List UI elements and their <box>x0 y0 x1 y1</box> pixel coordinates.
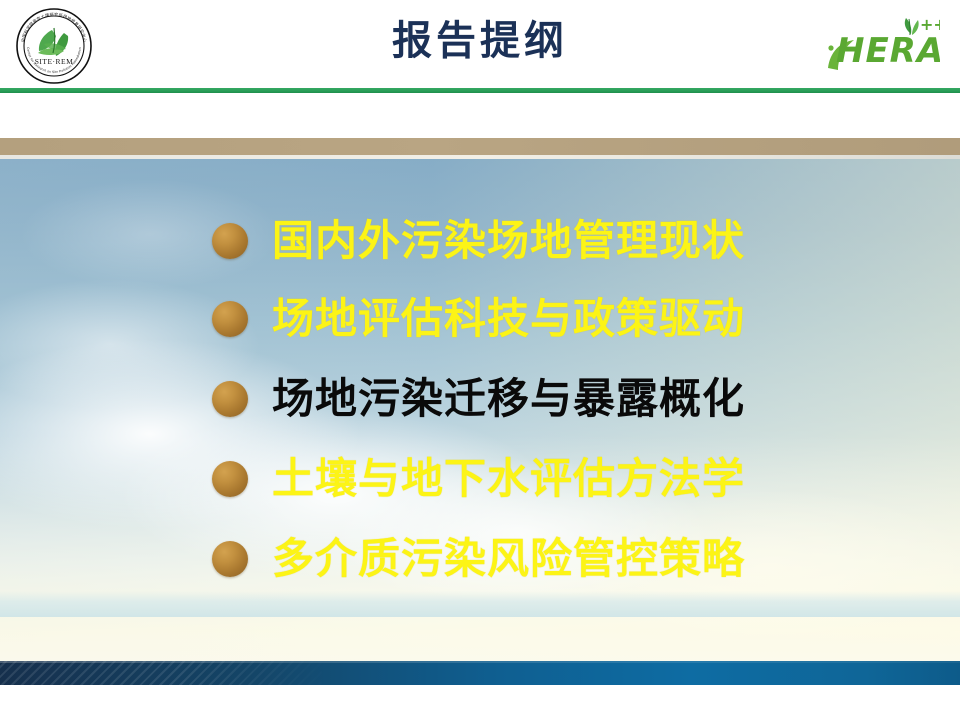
content-top-tan-bar <box>0 138 960 155</box>
list-item-label: 国内外污染场地管理现状 <box>272 218 745 264</box>
bullet-dot-icon <box>212 301 248 337</box>
bullet-dot-icon <box>212 223 248 259</box>
outline-list: 国内外污染场地管理现状 场地评估科技与政策驱动 场地污染迁移与暴露概化 土壤与地… <box>0 159 960 661</box>
slide-header: SITE·REM 中国科学院南京土壤研究所场地修复研究中心 Center for… <box>0 0 960 96</box>
list-item-label: 土壤与地下水评估方法学 <box>272 456 745 502</box>
page-title: 报告提纲 <box>0 12 960 70</box>
footer-highlight-line <box>0 661 960 663</box>
bullet-dot-icon <box>212 381 248 417</box>
header-green-divider <box>0 88 960 93</box>
bullet-dot-icon <box>212 541 248 577</box>
footer-hatch-pattern <box>0 661 330 685</box>
list-item-label: 场地污染迁移与暴露概化 <box>272 376 745 422</box>
list-item[interactable]: 场地污染迁移与暴露概化 <box>212 371 745 427</box>
hera-leaf-logo: HERA ++ <box>820 8 940 78</box>
list-item-label: 场地评估科技与政策驱动 <box>272 296 745 342</box>
list-item[interactable]: 场地评估科技与政策驱动 <box>212 291 745 347</box>
hera-superscript: ++ <box>920 15 940 34</box>
list-item[interactable]: 土壤与地下水评估方法学 <box>212 451 745 507</box>
list-item[interactable]: 国内外污染场地管理现状 <box>212 213 745 269</box>
hera-wordmark: HERA <box>836 31 940 71</box>
bullet-dot-icon <box>212 461 248 497</box>
presentation-slide: SITE·REM 中国科学院南京土壤研究所场地修复研究中心 Center for… <box>0 0 960 720</box>
list-item-label: 多介质污染风险管控策略 <box>272 536 745 582</box>
list-item[interactable]: 多介质污染风险管控策略 <box>212 531 745 587</box>
